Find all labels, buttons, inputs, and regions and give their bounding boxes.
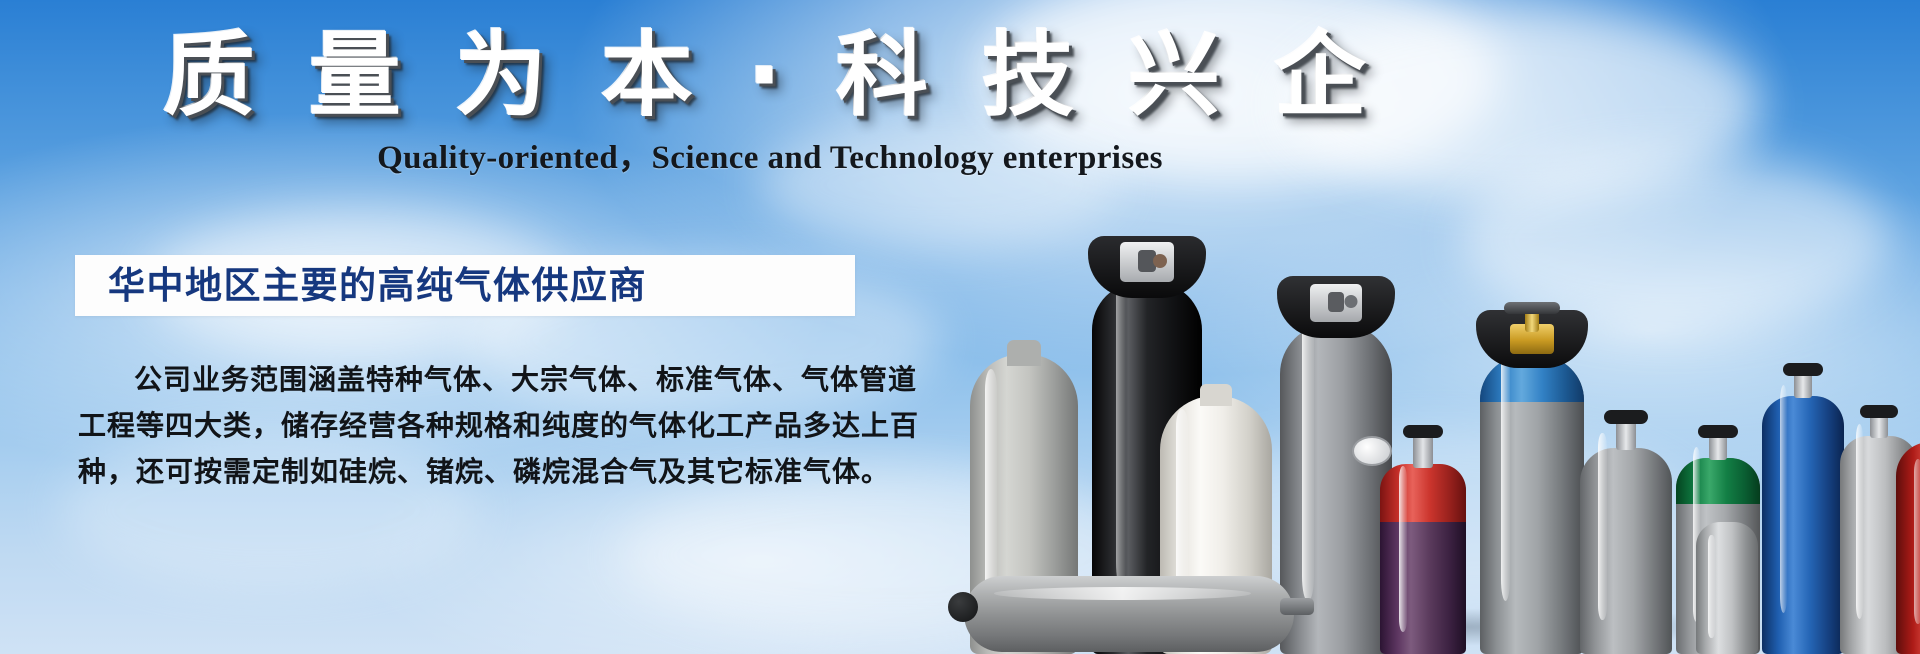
cylinder-small-aluminium (1696, 522, 1758, 654)
banner-description: 公司业务范围涵盖特种气体、大宗气体、标准气体、气体管道 工程等四大类，储存经营各… (78, 358, 868, 496)
cylinder-valve-stem (1413, 434, 1433, 468)
cylinder-handwheel (1403, 425, 1443, 438)
cylinder-handwheel (1860, 405, 1898, 418)
promo-banner: 质 量 为 本 · 科 技 兴 企 Quality-oriented，Scien… (0, 0, 1920, 654)
banner-headline: 质 量 为 本 · 科 技 兴 企 (0, 24, 1540, 128)
cylinder-blue-grey (1480, 302, 1584, 654)
horizontal-gas-tank (964, 576, 1294, 652)
callout-box: 华中地区主要的高纯气体供应商 (75, 255, 855, 316)
tank-endcap (948, 592, 978, 622)
cylinder-grey-handwheel (1580, 414, 1672, 654)
gas-cylinder-group-image (940, 140, 1920, 654)
pressure-gauge (1352, 436, 1392, 466)
description-line-1: 公司业务范围涵盖特种气体、大宗气体、标准气体、气体管道 (78, 358, 868, 404)
callout-text: 华中地区主要的高纯气体供应商 (75, 265, 647, 306)
valve-handwheel (1504, 302, 1560, 314)
cylinder-handwheel (1604, 410, 1648, 424)
cylinder-blue (1762, 362, 1844, 654)
description-line-2: 工程等四大类，储存经营各种规格和纯度的气体化工产品多达上百 (78, 404, 868, 450)
cylinder-red-purple (1380, 430, 1466, 654)
cylinder-red (1896, 442, 1920, 654)
description-line-3: 种，还可按需定制如硅烷、锗烷、磷烷混合气及其它标准气体。 (78, 450, 868, 496)
cylinder-handwheel (1783, 363, 1823, 376)
tank-valve (1280, 598, 1314, 615)
cylinder-handwheel (1698, 425, 1738, 438)
